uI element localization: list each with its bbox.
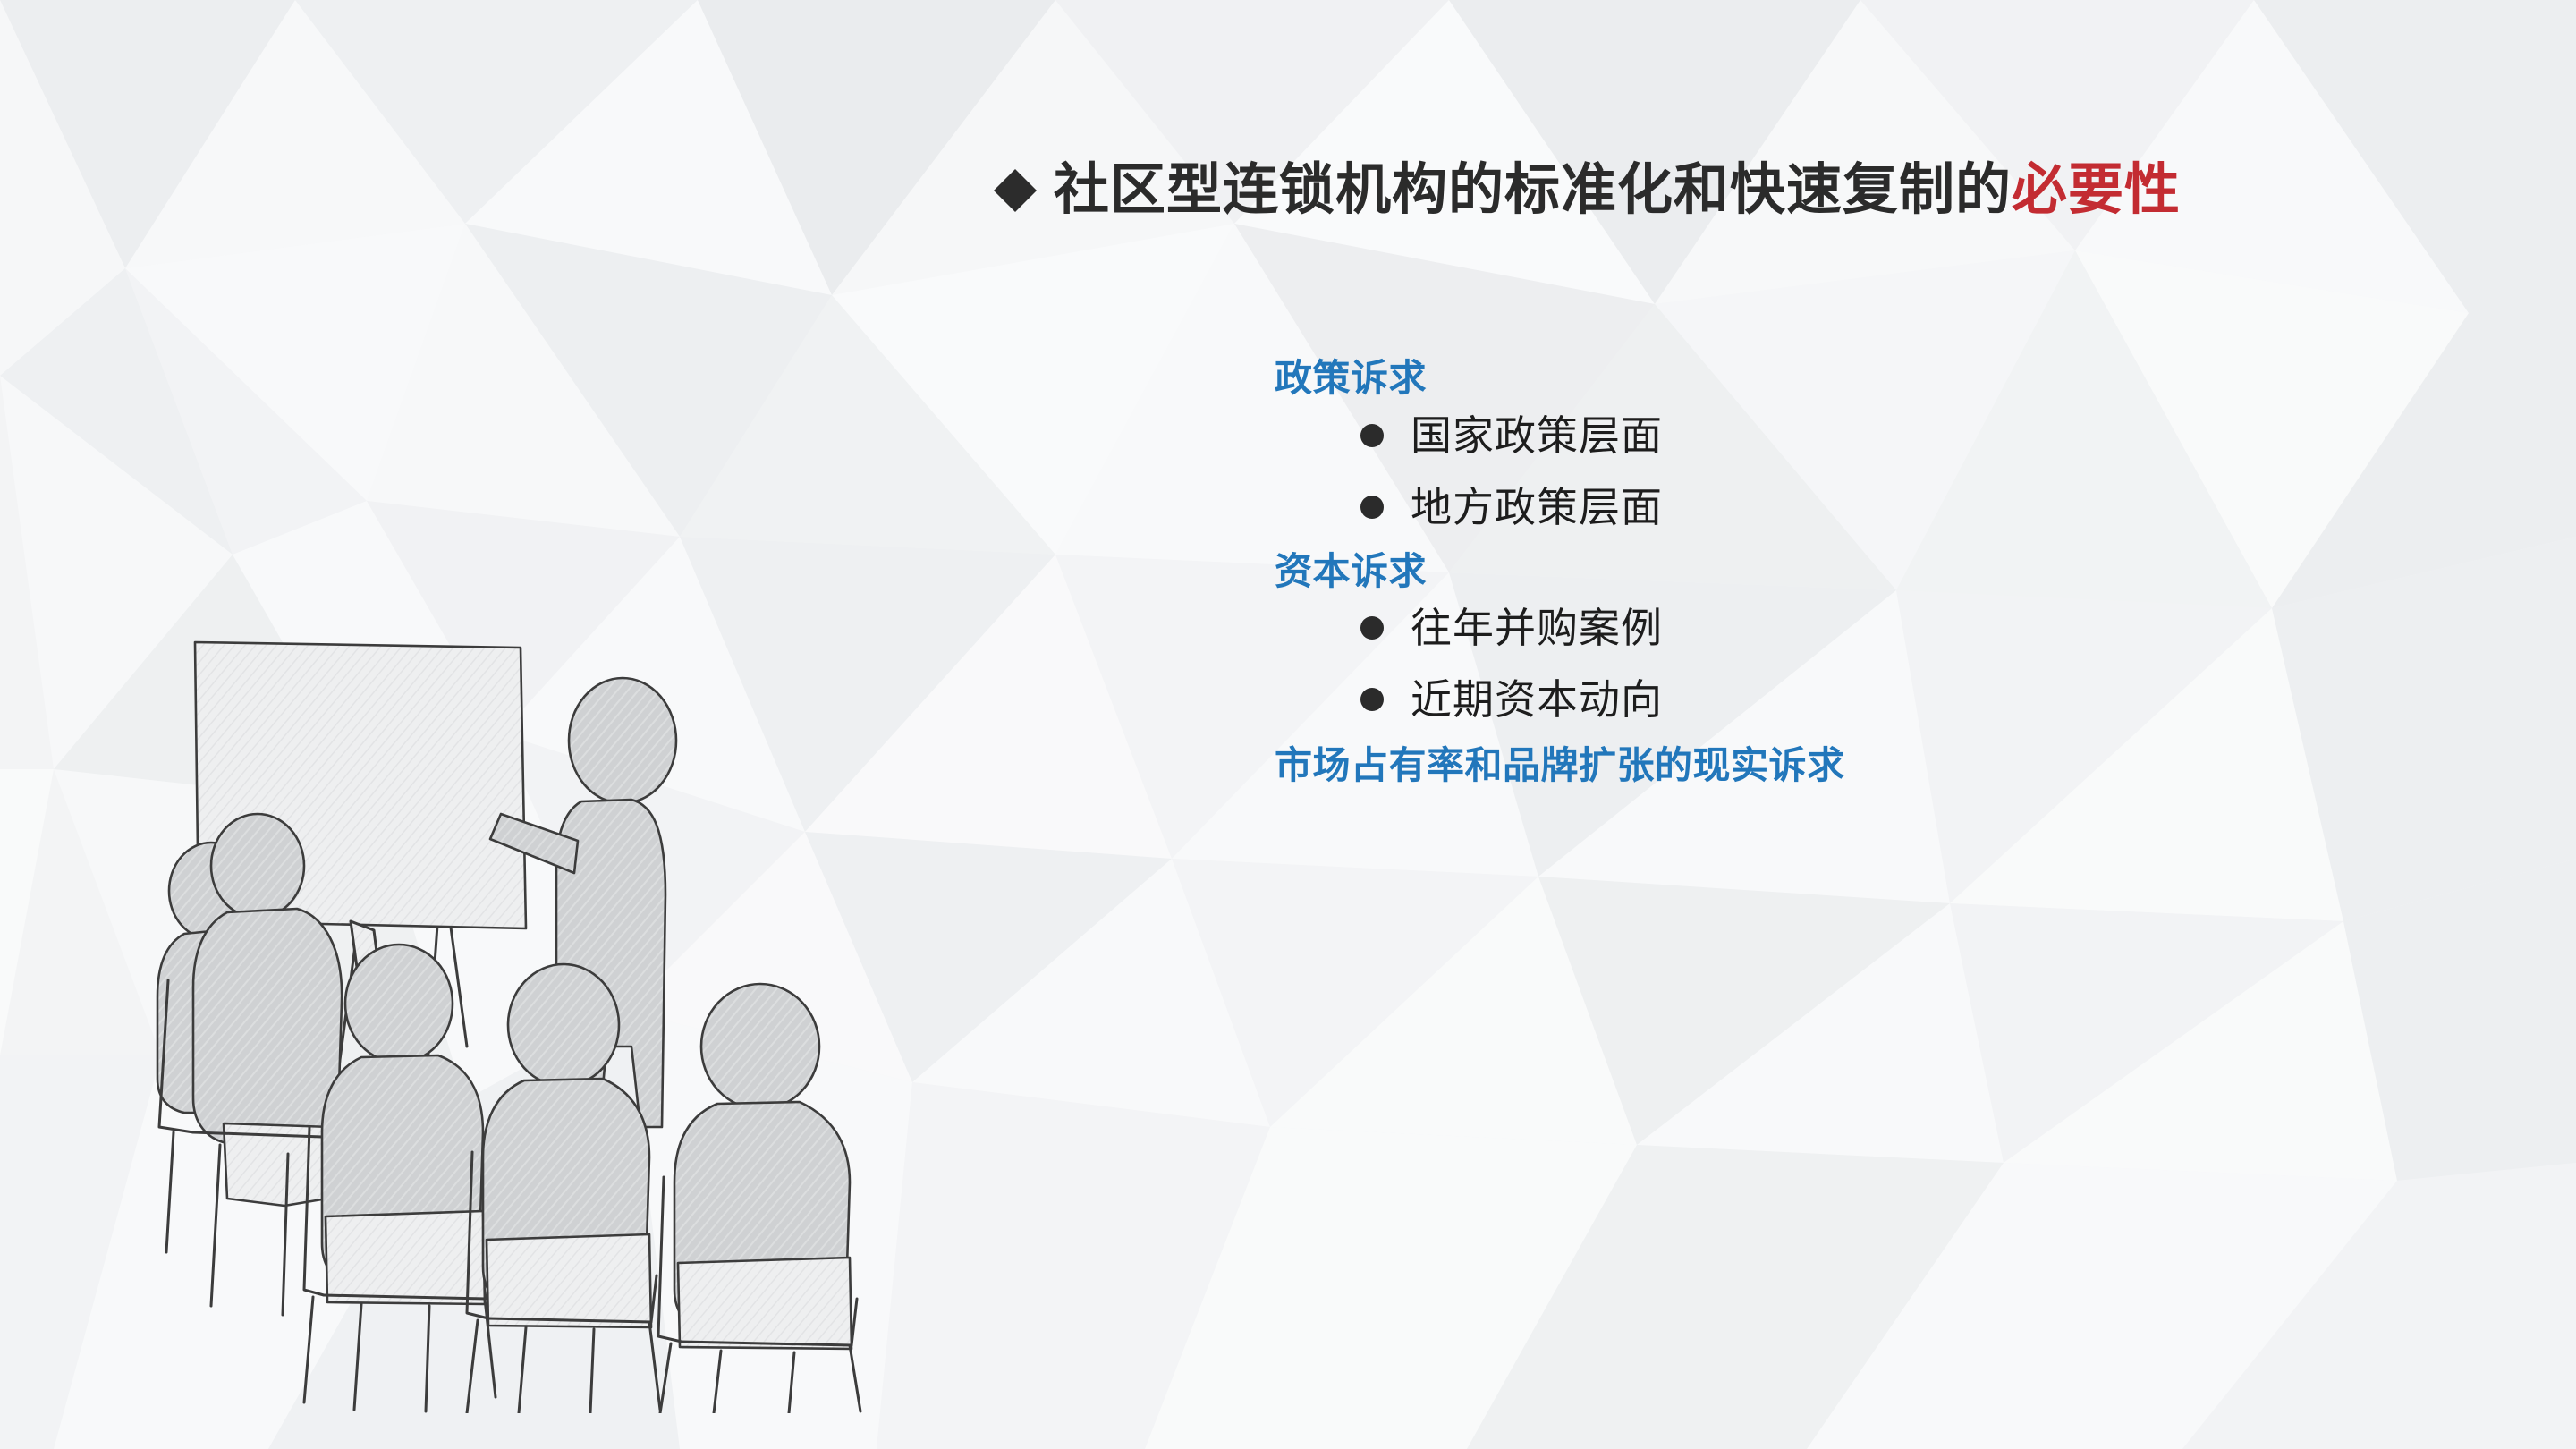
bullet-label: 国家政策层面 [1411, 415, 1663, 456]
bullet-dot-icon [1360, 616, 1384, 640]
title-accent-text: 必要性 [2012, 159, 2181, 221]
sketch-svg [134, 626, 1082, 1413]
bullet-dot-icon [1360, 424, 1384, 447]
section-heading-capital: 资本诉求 [1275, 549, 2169, 594]
section-heading-policy: 政策诉求 [1275, 356, 2169, 401]
section-heading-market: 市场占有率和品牌扩张的现实诉求 [1275, 743, 2169, 788]
bullet-dot-icon [1360, 688, 1384, 711]
list-item[interactable]: 近期资本动向 [1360, 679, 2169, 720]
bullet-dot-icon [1360, 496, 1384, 519]
slide-title: 社区型连锁机构的标准化和快速复制的必要性 [1000, 163, 2181, 218]
bullet-label: 往年并购案例 [1411, 607, 1663, 648]
audience-figure-5 [674, 984, 852, 1349]
bullet-label: 近期资本动向 [1411, 679, 1663, 720]
bullet-list-policy: 国家政策层面 地方政策层面 [1275, 415, 2169, 528]
bullet-list-capital: 往年并购案例 近期资本动向 [1275, 607, 2169, 720]
title-main-text: 社区型连锁机构的标准化和快速复制的 [1054, 159, 2012, 221]
meeting-sketch-illustration [134, 626, 1082, 1413]
bullet-label: 地方政策层面 [1411, 487, 1663, 528]
presentation-slide: 社区型连锁机构的标准化和快速复制的必要性 政策诉求 国家政策层面 地方政策层面 … [0, 0, 2576, 1449]
list-item[interactable]: 往年并购案例 [1360, 607, 2169, 648]
diamond-bullet-icon [994, 169, 1037, 212]
content-body: 政策诉求 国家政策层面 地方政策层面 资本诉求 往年并购案例 近期资本动向 市场… [1275, 356, 2169, 788]
page-title: 社区型连锁机构的标准化和快速复制的必要性 [1054, 163, 2181, 218]
list-item[interactable]: 国家政策层面 [1360, 415, 2169, 456]
list-item[interactable]: 地方政策层面 [1360, 487, 2169, 528]
